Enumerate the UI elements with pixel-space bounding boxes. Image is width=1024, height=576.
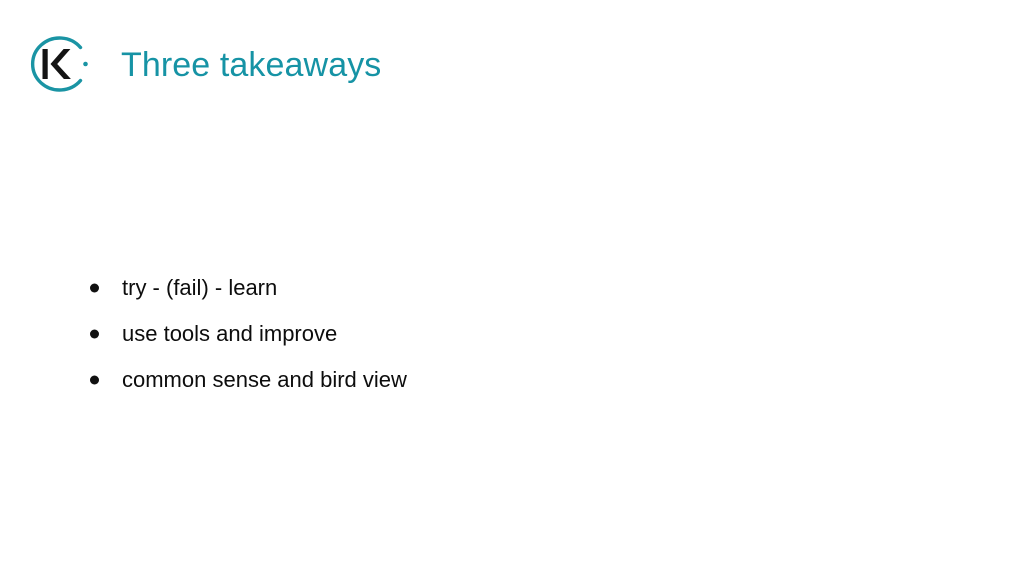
bullet-dot-icon (90, 376, 99, 385)
list-item-label: use tools and improve (122, 320, 337, 348)
presentation-slide: Three takeaways try - (fail) - learn use… (0, 0, 1024, 576)
bullet-dot-icon (90, 330, 99, 339)
bullet-dot-icon (90, 284, 99, 293)
page-title: Three takeaways (121, 43, 381, 87)
list-item: common sense and bird view (88, 357, 407, 403)
k-circle-logo-icon (24, 35, 90, 93)
list-item: use tools and improve (88, 311, 407, 357)
takeaways-list: try - (fail) - learn use tools and impro… (88, 265, 407, 403)
slide-header: Three takeaways (0, 0, 1024, 130)
list-item-label: try - (fail) - learn (122, 274, 277, 302)
list-item: try - (fail) - learn (88, 265, 407, 311)
slide-body: try - (fail) - learn use tools and impro… (0, 130, 1024, 576)
list-item-label: common sense and bird view (122, 366, 407, 394)
